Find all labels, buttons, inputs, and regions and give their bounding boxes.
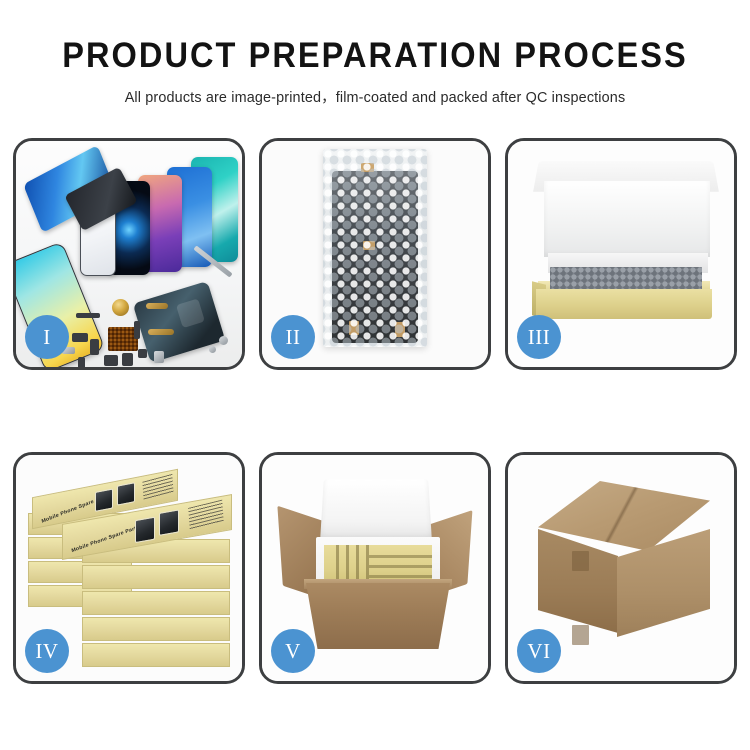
flex-cable-2 — [148, 329, 174, 335]
box-front-panel — [536, 289, 712, 319]
camera-module — [104, 355, 118, 366]
speaker-component — [112, 299, 129, 316]
process-step-panel-4[interactable]: Mobile Phone Spare Parts Mobile Phone Sp… — [13, 452, 245, 684]
step-badge-2: II — [271, 315, 315, 359]
screw-2 — [209, 346, 216, 353]
process-step-panel-1[interactable]: I — [13, 138, 245, 370]
page-title: PRODUCT PREPARATION PROCESS — [26, 38, 724, 75]
page-subtitle: All products are image-printed，film-coat… — [0, 86, 750, 107]
step-badge-6: VI — [517, 629, 561, 673]
box-printed-screen-1a — [95, 488, 113, 511]
part-block-1 — [72, 333, 88, 342]
part-block-4 — [138, 349, 147, 358]
sim-tray — [154, 351, 164, 363]
box-printed-lines-1 — [142, 474, 173, 502]
stacked-box-front-2 — [82, 565, 230, 589]
stacked-box-front-4 — [82, 617, 230, 641]
page-header: PRODUCT PREPARATION PROCESS All products… — [0, 0, 750, 107]
box-printed-screen-2b — [159, 509, 179, 536]
bubble-wrap-package — [323, 149, 427, 347]
part-strip-1 — [76, 313, 100, 318]
process-step-panel-2[interactable]: II — [259, 138, 491, 370]
box-printed-screen-1b — [117, 482, 135, 505]
bubble-texture-overlay — [323, 149, 427, 347]
step-badge-5: V — [271, 629, 315, 673]
step-badge-4: IV — [25, 629, 69, 673]
carton-tape-upper — [572, 551, 589, 571]
process-step-panel-5[interactable]: V — [259, 452, 491, 684]
box-slat-h1 — [369, 555, 432, 558]
box-slat-h3 — [369, 575, 432, 578]
process-steps-grid: I II — [13, 138, 737, 684]
carton-body — [306, 583, 450, 649]
step-badge-1: I — [25, 315, 69, 359]
box-printed-lines-2 — [188, 500, 224, 531]
part-strip-2 — [134, 321, 140, 339]
box-lid-inner — [544, 181, 710, 257]
part-block-2 — [90, 339, 99, 355]
part-block-3 — [78, 357, 85, 367]
step-badge-3: III — [517, 315, 561, 359]
process-step-panel-3[interactable]: III — [505, 138, 737, 370]
carton-left-face — [538, 529, 618, 633]
flex-cable-1 — [146, 303, 168, 309]
product-preparation-process-page: PRODUCT PREPARATION PROCESS All products… — [0, 0, 750, 750]
foam-lid — [320, 479, 432, 541]
box-printed-screen-2a — [135, 517, 155, 544]
process-step-panel-6[interactable]: VI — [505, 452, 737, 684]
stacked-box-front-5 — [82, 643, 230, 667]
screw-1 — [219, 336, 228, 345]
vibration-motor — [122, 353, 133, 366]
carton-tape-lower — [572, 625, 589, 645]
box-slat-h2 — [369, 565, 432, 568]
stacked-box-front-3 — [82, 591, 230, 615]
